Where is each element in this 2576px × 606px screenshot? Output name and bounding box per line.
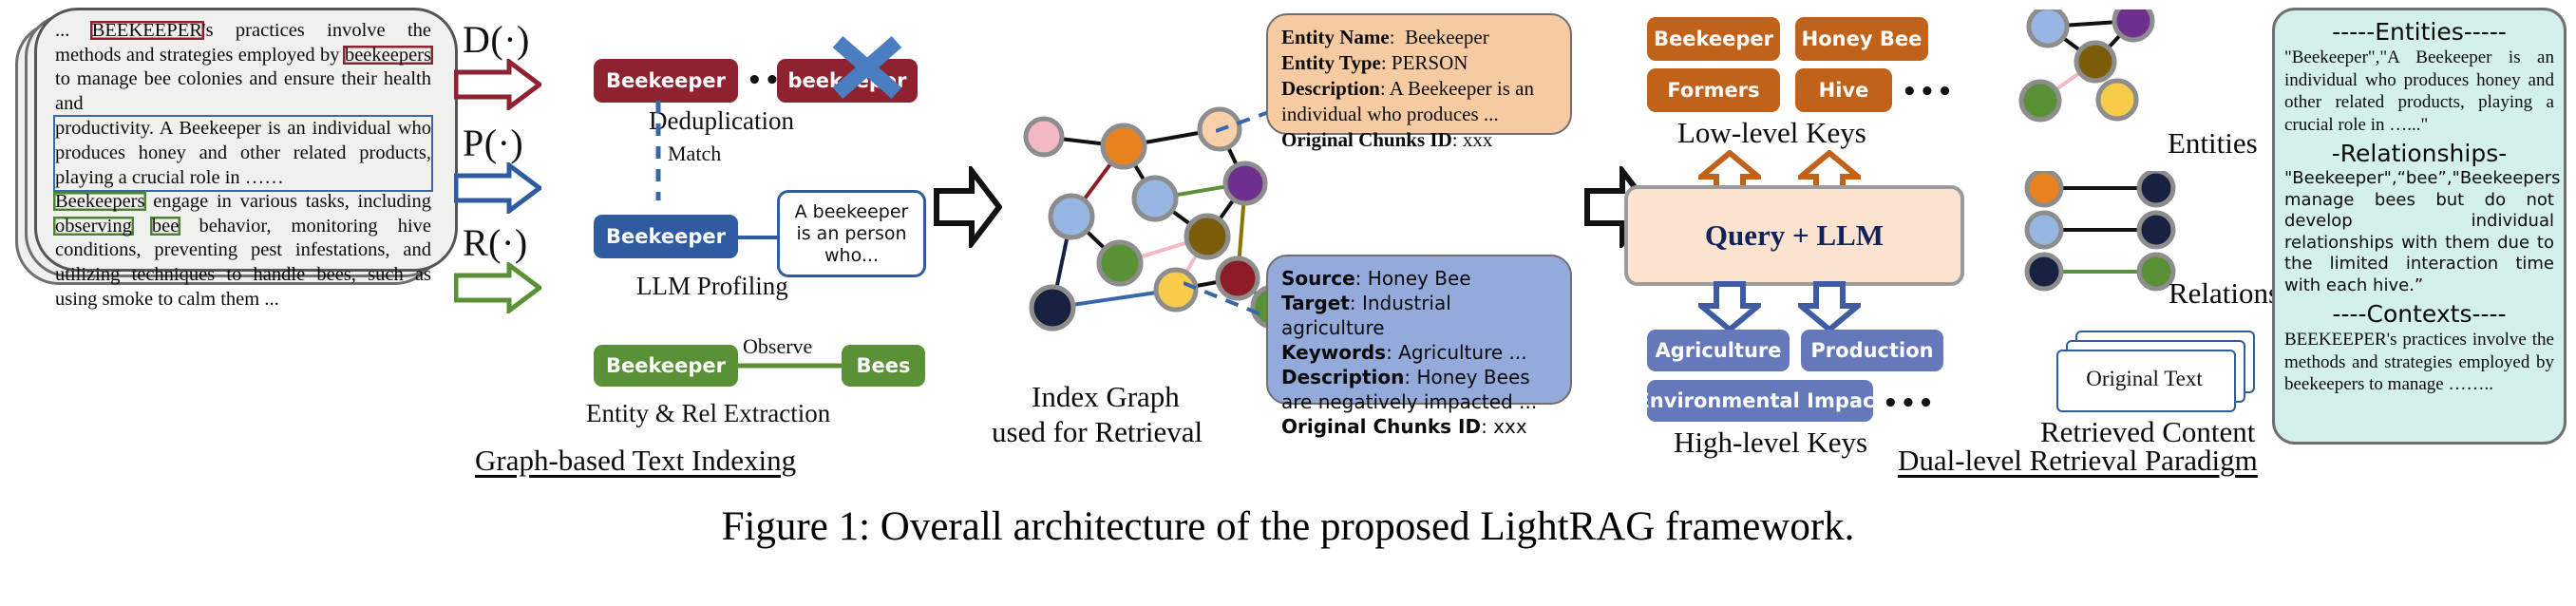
- entity-node[interactable]: [2114, 9, 2152, 40]
- relation-row-source: Source: Honey Bee: [1281, 266, 1557, 291]
- dedup-stage-label: Deduplication: [649, 106, 794, 136]
- entity-row-chunk: Original Chunks ID: xxx: [1281, 127, 1557, 153]
- low-level-key-3[interactable]: Hive: [1795, 68, 1892, 112]
- high-level-key-0[interactable]: Agriculture: [1647, 330, 1790, 371]
- graph-node[interactable]: [1103, 125, 1145, 167]
- relation-key-keywords: Keywords: [1281, 341, 1386, 364]
- match-label: Match: [668, 142, 721, 166]
- entity-value-chunk: xxx: [1463, 128, 1493, 151]
- entity-node[interactable]: [2098, 81, 2136, 119]
- entity-detail-card: Entity Name: Beekeeper Entity Type: PERS…: [1266, 13, 1572, 135]
- result-heading-relationships: -Relationships-: [2284, 140, 2554, 168]
- entity-key-name: Entity Name: [1281, 26, 1390, 48]
- relation-row-keywords: Keywords: Agriculture ...: [1281, 340, 1557, 365]
- highlight-observing: observing: [53, 217, 134, 236]
- entity-value-name: Beekeeper: [1405, 26, 1489, 48]
- operator-extract-label: R(·): [463, 220, 528, 265]
- high-level-keys-label: High-level Keys: [1674, 426, 1867, 460]
- figure-root: ... BEEKEEPER's practices involve the me…: [0, 0, 2576, 606]
- high-level-key-2[interactable]: Environmental Impact: [1647, 380, 1873, 422]
- relation-value-source: Honey Bee: [1368, 267, 1471, 290]
- graph-node[interactable]: [1099, 242, 1141, 284]
- source-document-text: ... BEEKEEPER's practices involve the me…: [47, 13, 439, 264]
- extract-pill-target[interactable]: Bees: [842, 345, 925, 387]
- extract-edge-label: Observe: [743, 334, 812, 359]
- operator-profile-label: P(·): [463, 121, 523, 165]
- graph-label-line2: used for Retrieval: [992, 415, 1203, 449]
- doc-seg-1: ...: [55, 20, 92, 41]
- entity-row-type: Entity Type: PERSON: [1281, 50, 1557, 76]
- result-heading-entities: -----Entities-----: [2284, 18, 2554, 47]
- original-text-label: Original Text: [2056, 350, 2232, 408]
- profiling-stage-label: LLM Profiling: [636, 272, 788, 301]
- relation-key-desc: Description: [1281, 366, 1404, 388]
- dedup-pill-keep[interactable]: Beekeeper: [594, 59, 738, 103]
- entity-key-chunk: Original Chunks ID: [1281, 128, 1452, 151]
- arrow-dedup-icon: [454, 59, 541, 110]
- entity-row-name: Entity Name: Beekeeper: [1281, 25, 1557, 50]
- high-level-key-1[interactable]: Production: [1801, 330, 1943, 371]
- x-cross-icon: [828, 34, 906, 101]
- graph-node[interactable]: [1026, 119, 1062, 155]
- entity-key-type: Entity Type: [1281, 51, 1381, 74]
- highlight-profile-block: productivity. A Beekeeper is an individu…: [55, 117, 431, 190]
- operator-dedup-label: D(·): [463, 17, 530, 62]
- section-label-retrieval: Dual-level Retrieval Paradigm: [1898, 444, 2258, 478]
- arrow-extract-icon: [454, 262, 541, 313]
- extract-pill-source[interactable]: Beekeeper: [594, 345, 738, 387]
- entity-row-desc: Description: A Beekeeper is an individua…: [1281, 76, 1557, 127]
- relations-label: Relations: [2169, 276, 2280, 311]
- figure-caption: Figure 1: Overall architecture of the pr…: [0, 503, 2576, 550]
- relation-value-chunk: xxx: [1493, 415, 1527, 438]
- entity-key-desc: Description: [1281, 77, 1380, 100]
- relation-row-chunk: Original Chunks ID: xxx: [1281, 414, 1557, 439]
- entities-label: Entities: [2168, 126, 2258, 161]
- relation-node[interactable]: [2027, 255, 2061, 289]
- relation-key-chunk: Original Chunks ID: [1281, 415, 1481, 438]
- relation-row-desc: Description: Honey Bees are negatively i…: [1281, 365, 1557, 414]
- arrow-down-high-right-icon: [1798, 281, 1861, 332]
- profile-connector-line: [737, 234, 779, 241]
- relation-detail-card: Source: Honey Bee Target: Industrial agr…: [1266, 255, 1572, 405]
- low-level-keys-label: Low-level Keys: [1677, 116, 1866, 150]
- result-body-contexts: BEEKEEPER's practices involve the method…: [2284, 329, 2554, 396]
- final-context-card: -----Entities----- "Beekeeper","A Beekee…: [2272, 8, 2567, 445]
- highlight-bee: bee: [150, 217, 180, 236]
- extract-edge-line: [737, 362, 843, 369]
- retrieved-entities-graph: [2014, 9, 2170, 128]
- profile-description-callout: A beekeeper is an person who...: [777, 190, 926, 277]
- result-body-entities: "Beekeeper","A Beekeeper is an individua…: [2284, 47, 2554, 136]
- doc-seg-3: to manage bee colonies and ensure their …: [55, 68, 431, 114]
- extraction-stage-label: Entity & Rel Extraction: [586, 399, 830, 428]
- highlight-beekeepers-green: Beekeepers: [53, 192, 146, 211]
- graph-node[interactable]: [1134, 178, 1176, 219]
- arrow-down-high-left-icon: [1698, 281, 1761, 332]
- relation-key-source: Source: [1281, 267, 1355, 290]
- result-heading-contexts: ----Contexts----: [2284, 300, 2554, 329]
- highlight-beekeeper-caps: BEEKEEPER: [90, 21, 204, 40]
- relation-value-keywords: Agriculture ...: [1398, 341, 1526, 364]
- low-level-key-0[interactable]: Beekeeper: [1647, 17, 1780, 61]
- entity-node[interactable]: [2076, 43, 2114, 81]
- arrow-profile-icon: [454, 162, 541, 214]
- entity-node[interactable]: [2021, 82, 2059, 120]
- low-level-key-1[interactable]: Honey Bee: [1795, 17, 1928, 61]
- high-level-ellipsis: •••: [1883, 389, 1936, 418]
- result-body-relationships: "Beekeeper",“bee”,"Beekeepers manage bee…: [2284, 168, 2554, 296]
- match-dashed-line: [652, 101, 665, 200]
- relation-node[interactable]: [2027, 171, 2061, 205]
- relation-node[interactable]: [2139, 171, 2173, 205]
- relation-row-target: Target: Industrial agriculture: [1281, 291, 1557, 340]
- graph-label-line1: Index Graph: [1032, 380, 1180, 414]
- graph-node[interactable]: [1186, 216, 1228, 257]
- entity-node[interactable]: [2029, 9, 2067, 46]
- relation-key-target: Target: [1281, 292, 1350, 314]
- low-level-ellipsis: •••: [1902, 78, 1955, 106]
- profile-pill[interactable]: Beekeeper: [594, 215, 738, 258]
- low-level-key-2[interactable]: Formers: [1647, 68, 1780, 112]
- relation-node[interactable]: [2139, 213, 2173, 247]
- highlight-beekeepers-lc: beekeepers: [343, 46, 433, 65]
- graph-node[interactable]: [1051, 196, 1092, 237]
- doc-space: [132, 216, 152, 237]
- query-llm-box[interactable]: Query + LLM: [1624, 185, 1964, 286]
- relation-node[interactable]: [2027, 213, 2061, 247]
- graph-node[interactable]: [1032, 287, 1073, 329]
- doc-seg-4: engage in various tasks, including: [144, 191, 431, 212]
- entity-value-type: PERSON: [1392, 51, 1468, 74]
- graph-node[interactable]: [1225, 163, 1265, 203]
- section-label-indexing: Graph-based Text Indexing: [475, 444, 796, 478]
